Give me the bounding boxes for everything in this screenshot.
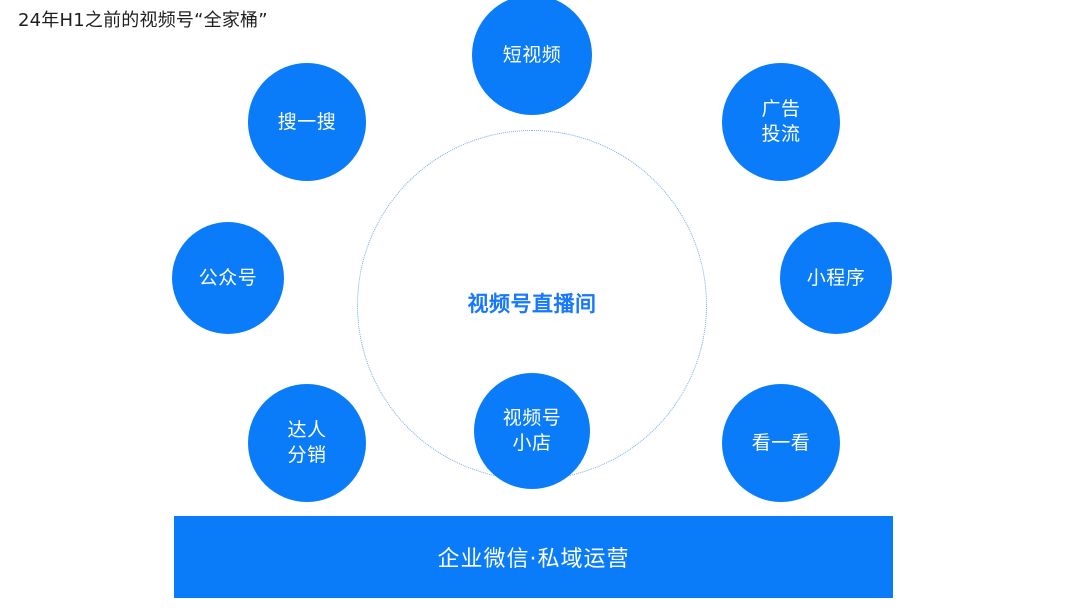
node-short-video-label: 短视频 (503, 43, 562, 68)
node-channels-shop-label: 视频号 小店 (503, 406, 562, 456)
node-ads[interactable]: 广告 投流 (722, 63, 840, 181)
node-talent-distribution-label: 达人 分销 (287, 418, 326, 468)
node-search-label: 搜一搜 (278, 110, 337, 135)
node-kan-yi-kan[interactable]: 看一看 (722, 384, 840, 502)
node-ads-label: 广告 投流 (761, 97, 800, 147)
bottom-bar[interactable]: 企业微信·私域运营 (174, 516, 893, 598)
node-search[interactable]: 搜一搜 (248, 63, 366, 181)
node-official-account[interactable]: 公众号 (172, 222, 284, 334)
center-label: 视频号直播间 (382, 288, 682, 318)
node-channels-shop[interactable]: 视频号 小店 (474, 373, 590, 489)
node-official-account-label: 公众号 (199, 266, 258, 291)
node-talent-distribution[interactable]: 达人 分销 (248, 384, 366, 502)
node-short-video[interactable]: 短视频 (472, 0, 592, 115)
node-kan-yi-kan-label: 看一看 (752, 431, 811, 456)
node-mini-program[interactable]: 小程序 (780, 222, 892, 334)
bottom-bar-label: 企业微信·私域运营 (438, 541, 630, 573)
node-mini-program-label: 小程序 (807, 266, 866, 291)
page-title: 24年H1之前的视频号“全家桶” (18, 8, 268, 34)
slide-canvas: 24年H1之前的视频号“全家桶” 视频号直播间 短视频 搜一搜 广告 投流 公众… (0, 0, 1080, 608)
